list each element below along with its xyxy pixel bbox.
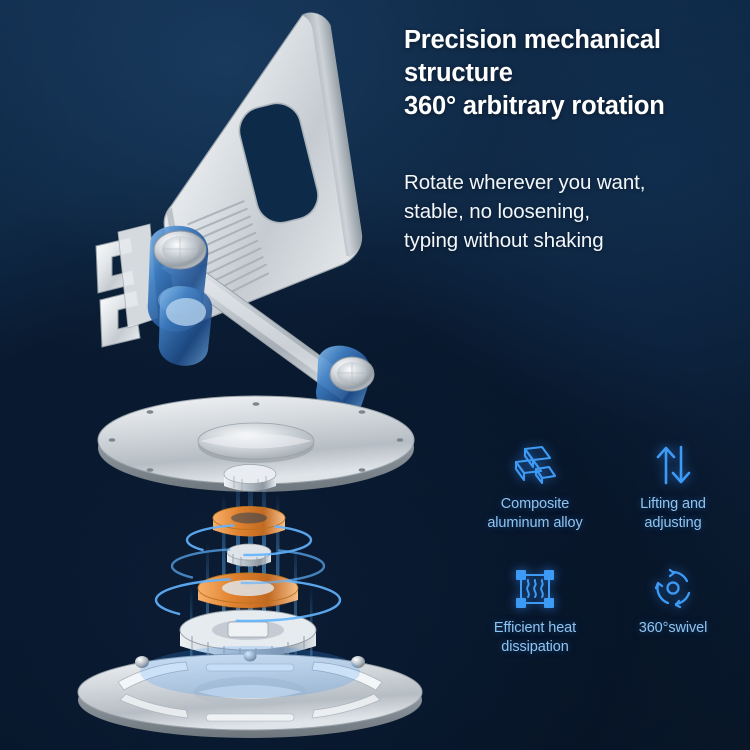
subheading-line-1: Rotate wherever you want, [404,168,734,197]
marketing-image: Precision mechanical structure 360° arbi… [0,0,750,750]
lower-hinge-knob [159,286,213,366]
heat-dissipation-icon [514,566,556,612]
subheading: Rotate wherever you want, stable, no loo… [404,168,734,255]
headline-line-2: structure [404,57,734,90]
feature-label-line-2: dissipation [494,638,576,657]
product-illustration [0,0,460,750]
bearing-assembly-exploded [156,465,340,667]
feature-efficient-heat-dissipation: Efficient heat dissipation [466,566,604,682]
feature-grid: Composite aluminum alloy Lifting and adj… [466,442,742,682]
feature-lifting-and-adjusting: Lifting and adjusting [604,442,742,566]
feature-label: Lifting and adjusting [640,495,706,534]
feature-label-line-1: 360°swivel [639,619,707,638]
feature-label-line-1: Lifting and [640,495,706,514]
product-render [0,0,460,750]
feature-360-swivel: 360°swivel [604,566,742,682]
feature-label-line-2: aluminum alloy [487,514,582,533]
up-down-arrows-icon [653,442,693,488]
swivel-rotation-icon [652,566,694,612]
subheading-line-2: stable, no loosening, [404,197,734,226]
feature-label: 360°swivel [639,619,707,638]
headline: Precision mechanical structure 360° arbi… [404,24,734,123]
feature-label-line-2: adjusting [640,514,706,533]
feature-label: Efficient heat dissipation [494,619,576,658]
feature-composite-aluminum-alloy: Composite aluminum alloy [466,442,604,566]
metal-ingots-icon [512,442,558,488]
feature-label-line-1: Composite [487,495,582,514]
feature-label-line-1: Efficient heat [494,619,576,638]
headline-line-3: 360° arbitrary rotation [404,90,734,123]
feature-label: Composite aluminum alloy [487,495,582,534]
headline-line-1: Precision mechanical [404,24,734,57]
subheading-line-3: typing without shaking [404,226,734,255]
